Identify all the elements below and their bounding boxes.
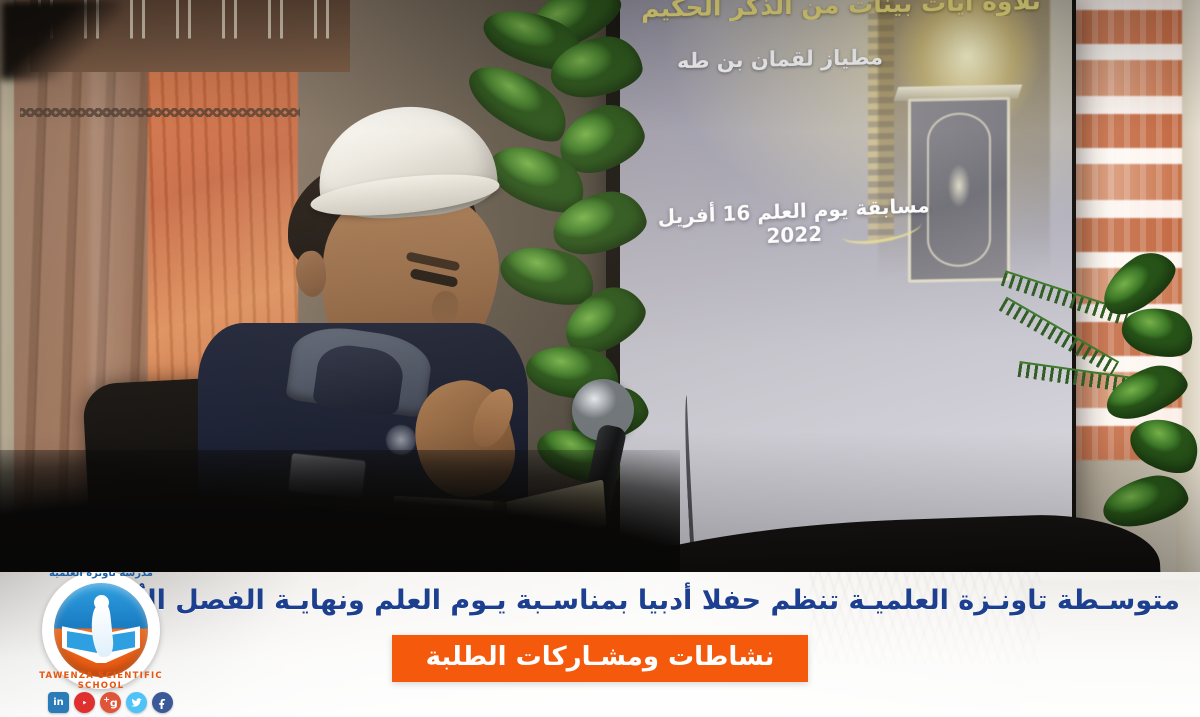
caption-bar: متوسـطة تاونـزة العلميـة تنظم حفلا أدبيا… <box>0 572 1200 717</box>
screenshot-root: تلاوة آيات بينات من الذكر الحكيم مطياز ل… <box>0 0 1200 717</box>
linkedin-icon[interactable]: in <box>48 692 69 713</box>
google-plus-glyph: g+ <box>103 696 118 709</box>
logo-emblem <box>54 583 148 677</box>
linkedin-glyph: in <box>53 698 64 708</box>
social-links-row: g+ in <box>48 692 173 713</box>
student-activities-banner: نشاطات ومشـاركات الطلبة <box>392 635 809 682</box>
twitter-icon[interactable] <box>126 692 147 713</box>
google-plus-icon[interactable]: g+ <box>100 692 121 713</box>
facebook-icon[interactable] <box>152 692 173 713</box>
logo-english-name: TAWENZA SCIENTIFIC SCHOOL <box>36 671 166 691</box>
caption-headline: متوسـطة تاونـزة العلميـة تنظم حفلا أدبيا… <box>170 584 1180 618</box>
school-logo[interactable]: مدرسة تاونزة العلمية TAWENZA SCIENTIFIC … <box>18 572 182 715</box>
plant-leaf <box>1098 470 1192 533</box>
valance-shadow <box>0 0 120 80</box>
event-photo: تلاوة آيات بينات من الذكر الحكيم مطياز ل… <box>0 0 1200 600</box>
logo-head-dot <box>94 595 109 610</box>
youtube-icon[interactable] <box>74 692 95 713</box>
